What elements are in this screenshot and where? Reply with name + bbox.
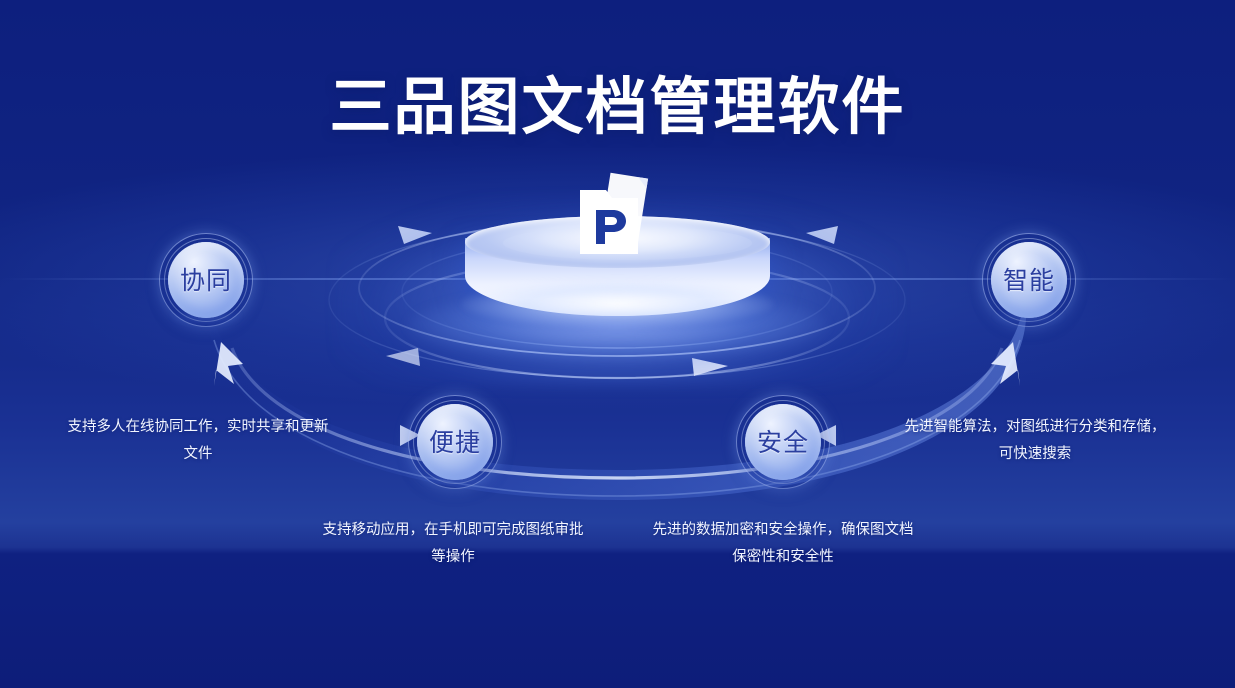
podium-rim-light: [461, 280, 774, 328]
node-sphere: 智能: [991, 242, 1067, 318]
node-sphere: 便捷: [417, 404, 493, 480]
node-sphere: 协同: [168, 242, 244, 318]
node-bianjie[interactable]: 便捷: [417, 404, 493, 480]
node-label: 安全: [757, 430, 809, 455]
description-zhineng: 先进智能算法，对图纸进行分类和存储，可快速搜索: [900, 414, 1170, 468]
page-title: 三品图文档管理软件: [0, 56, 1235, 146]
node-anquan[interactable]: 安全: [745, 404, 821, 480]
description-bianjie: 支持移动应用，在手机即可完成图纸审批等操作: [318, 517, 588, 571]
description-xietong: 支持多人在线协同工作，实时共享和更新文件: [63, 414, 333, 468]
node-sphere: 安全: [745, 404, 821, 480]
node-xietong[interactable]: 协同: [168, 242, 244, 318]
node-label: 协同: [180, 268, 232, 293]
node-zhineng[interactable]: 智能: [991, 242, 1067, 318]
document-folder-p-icon: [566, 168, 666, 268]
node-label: 智能: [1003, 268, 1055, 293]
slide-canvas: 三品图文档管理软件 协同 智能 便捷 安全 支持多人在线协同工作，实时共享和更: [0, 0, 1235, 688]
description-anquan: 先进的数据加密和安全操作，确保图文档保密性和安全性: [648, 517, 918, 571]
node-label: 便捷: [429, 430, 481, 455]
